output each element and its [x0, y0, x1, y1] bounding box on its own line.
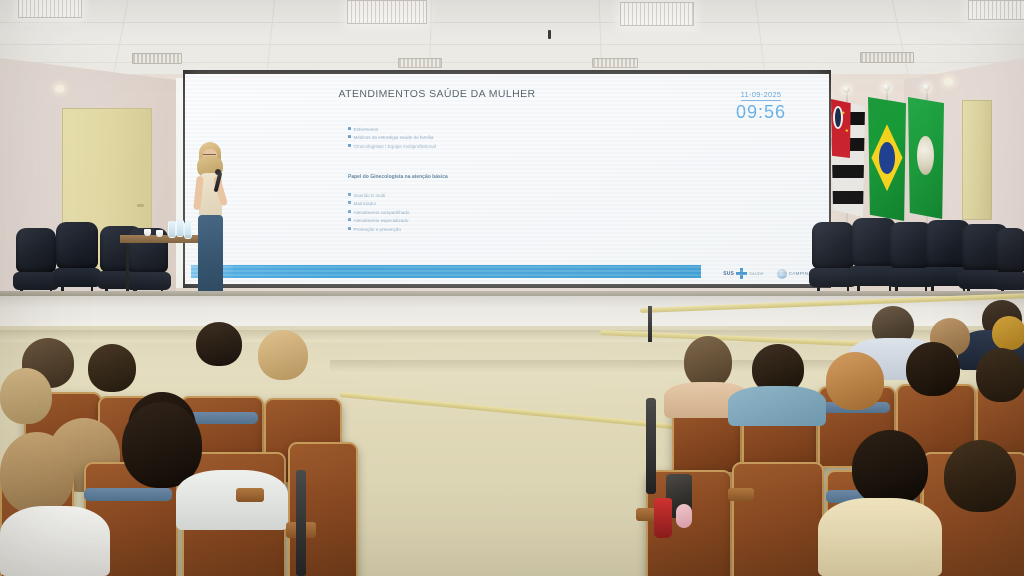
- slide-clock-date: 11-09-2025: [741, 90, 782, 101]
- handrail-post: [648, 306, 652, 342]
- audience-head: [196, 322, 242, 366]
- flag-finial: [843, 86, 850, 93]
- cup[interactable]: [156, 230, 163, 237]
- bullet-text: Atendimento compartilhado: [354, 210, 410, 215]
- audience-head: [258, 330, 308, 380]
- slide-title: ATENDIMENTOS SAÚDE DA MULHER: [185, 88, 689, 100]
- audience-head: [976, 348, 1024, 402]
- slide-bullets-top: Enfermeiros Médicos da estratégia saúde …: [348, 126, 436, 151]
- slide-blue-bar: [191, 265, 701, 278]
- audience-head: [684, 336, 732, 388]
- seat-armrest: [728, 488, 754, 501]
- flag-finial: [883, 84, 890, 91]
- flag-canton: [831, 99, 851, 158]
- bullet-text: Ginecologistas / Equipe multiprofissiona…: [354, 144, 436, 149]
- slide-subheading: Papel do Ginecologista na atenção básica: [348, 174, 448, 180]
- audience-head: [906, 342, 960, 396]
- flag-globe: [879, 142, 895, 174]
- medical-cross-icon: [736, 268, 747, 279]
- bullet-square-icon: [348, 127, 351, 130]
- ceiling-tile-grid: [0, 0, 1024, 78]
- bullet-square-icon: [348, 210, 351, 213]
- bullet-item: Inserido E multi: [348, 192, 409, 200]
- handbag[interactable]: [676, 504, 692, 528]
- ceiling-light-panel: [968, 0, 1024, 20]
- ceiling-light-panel: [18, 0, 82, 18]
- bullet-square-icon: [348, 193, 351, 196]
- city-seal-icon: [777, 269, 787, 279]
- bullet-item: Promoção e prevenção: [348, 226, 409, 234]
- flag-emblem: [833, 106, 843, 129]
- red-water-bottle[interactable]: [654, 498, 672, 538]
- audience-shoulders: [176, 470, 288, 530]
- slide-clock: 11-09-2025 09:56: [707, 84, 815, 123]
- seat-armrest: [236, 488, 264, 502]
- slide-bullets-bottom: Inserido E multi Matriciador Atendimento…: [348, 192, 409, 234]
- bullet-square-icon: [348, 135, 351, 138]
- sus-saude-logo: SUS SAÚDE: [723, 268, 764, 279]
- sao-paulo-state-flag: [831, 99, 865, 217]
- flag-seal: [917, 136, 934, 175]
- ceiling: [0, 0, 1024, 78]
- air-vent: [398, 58, 442, 68]
- audience-seat-headrest: [84, 488, 172, 501]
- door-handle-icon: [137, 204, 144, 207]
- audience-shoulders: [0, 506, 110, 576]
- bullet-text: Promoção e prevenção: [354, 227, 402, 232]
- audience-head: [944, 440, 1016, 512]
- slide-clock-time: 09:56: [707, 102, 815, 123]
- air-vent: [132, 53, 182, 64]
- bullet-item: Atendimento especializado: [348, 217, 409, 225]
- flag-finial: [923, 84, 930, 91]
- audience-shoulders: [818, 498, 942, 576]
- air-vent: [860, 52, 914, 63]
- auditorium-screenshot: P R E F E I T U R A PIRA ATENDIMENTOS SA…: [0, 0, 1024, 576]
- wall-sconce: [944, 78, 953, 85]
- bullet-text: Atendimento especializado: [354, 218, 409, 223]
- door-right[interactable]: [962, 100, 992, 220]
- seat-post: [646, 398, 656, 494]
- bullet-text: Enfermeiros: [354, 127, 379, 132]
- bullet-item: Atendimento compartilhado: [348, 209, 409, 217]
- bullet-item: Matriciador: [348, 200, 409, 208]
- projection-screen: ATENDIMENTOS SAÚDE DA MULHER 11-09-2025 …: [185, 74, 829, 284]
- bullet-square-icon: [348, 144, 351, 147]
- bullet-square-icon: [348, 201, 351, 204]
- air-vent: [592, 58, 638, 68]
- water-bottle[interactable]: [168, 221, 176, 238]
- sus-logo-text: SUS: [723, 271, 734, 277]
- audience-head: [826, 352, 884, 410]
- cup[interactable]: [144, 229, 151, 236]
- water-bottle[interactable]: [176, 220, 184, 237]
- audience-head: [0, 432, 74, 514]
- bullet-text: Médicos da estratégia saúde da família: [354, 135, 434, 140]
- audience-head: [852, 430, 928, 506]
- slide-logos: SUS SAÚDE CAMPINAS: [723, 268, 815, 279]
- bullet-item: Enfermeiros: [348, 126, 436, 134]
- wall-sconce: [55, 85, 64, 92]
- audience-seat[interactable]: [732, 462, 824, 576]
- ceiling-light-panel: [347, 0, 427, 24]
- audience-shoulders: [728, 386, 826, 426]
- brazil-national-flag: [868, 97, 906, 221]
- audience-head: [992, 316, 1024, 350]
- bullet-text: Matriciador: [354, 201, 377, 206]
- audience-head: [0, 368, 52, 424]
- ceiling-light-panel: [620, 2, 694, 26]
- municipal-flag: [908, 97, 944, 219]
- seat-post: [296, 470, 306, 576]
- bullet-square-icon: [348, 227, 351, 230]
- bullet-text: Inserido E multi: [354, 193, 386, 198]
- saude-logo-text: SAÚDE: [749, 271, 764, 276]
- audience-head: [88, 344, 136, 392]
- bullet-square-icon: [348, 218, 351, 221]
- sprinkler-head: [548, 30, 551, 39]
- bullet-item: Médicos da estratégia saúde da família: [348, 134, 436, 142]
- bullet-item: Ginecologistas / Equipe multiprofissiona…: [348, 143, 436, 151]
